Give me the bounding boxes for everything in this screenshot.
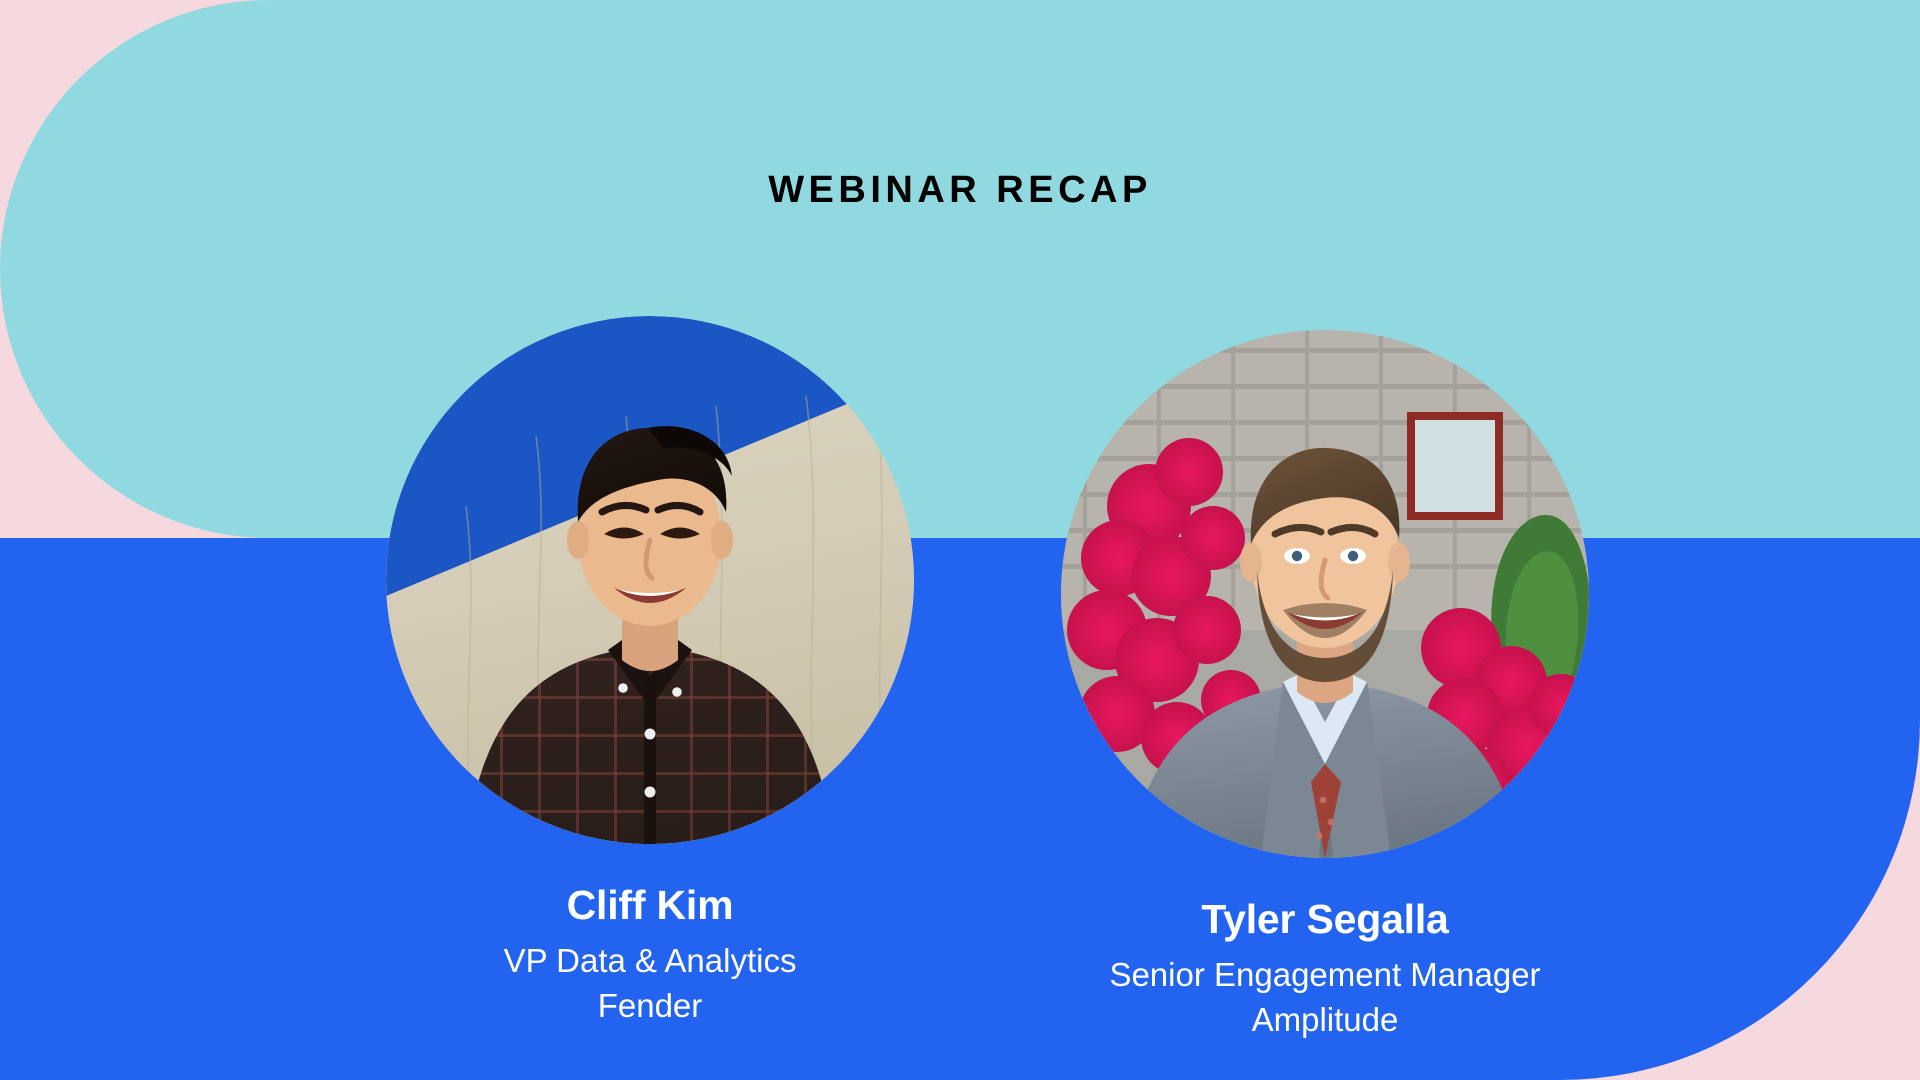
webinar-recap-banner: WEBINAR RECAP (0, 0, 1920, 1080)
speaker-role: VP Data & Analytics (386, 939, 914, 984)
speaker-role: Senior Engagement Manager (1061, 953, 1589, 998)
speaker-list: Cliff Kim VP Data & Analytics Fender (0, 0, 1920, 1080)
speaker-card-tyler-segalla: Tyler Segalla Senior Engagement Manager … (1061, 330, 1589, 1042)
speaker-name: Cliff Kim (386, 882, 914, 929)
speaker-name: Tyler Segalla (1061, 896, 1589, 943)
page-title: WEBINAR RECAP (0, 170, 1920, 212)
avatar (1061, 330, 1589, 858)
avatar (386, 316, 914, 844)
speaker-card-cliff-kim: Cliff Kim VP Data & Analytics Fender (386, 316, 914, 1028)
speaker-company: Amplitude (1061, 998, 1589, 1043)
speaker-company: Fender (386, 984, 914, 1029)
